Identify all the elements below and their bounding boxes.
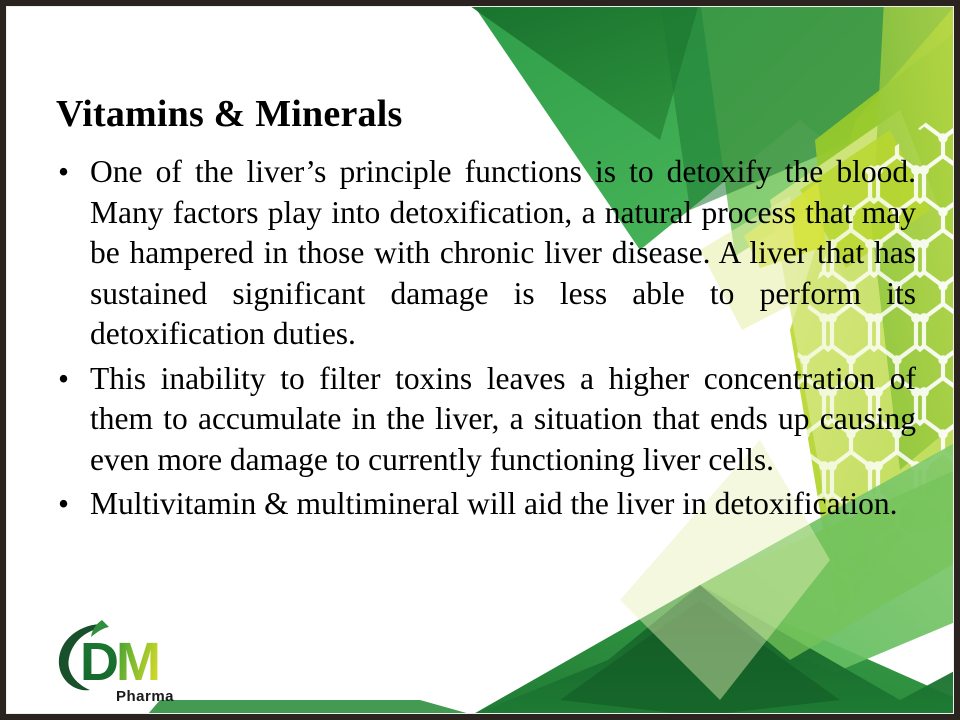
logo-letter-d: D xyxy=(80,632,119,692)
bullet-marker-icon: • xyxy=(58,484,69,525)
bullet-text-2: This inability to filter toxins leaves a… xyxy=(90,359,916,481)
bullet-marker-icon: • xyxy=(58,359,69,400)
logo-letter-m: M xyxy=(116,632,161,692)
deco-circuit-tree-trunk xyxy=(842,556,958,716)
logo-wordmark: D M xyxy=(80,632,161,692)
bullet-item-1: • One of the liver’s principle functions… xyxy=(44,152,916,355)
bullet-item-3: • Multivitamin & multimineral will aid t… xyxy=(44,484,916,525)
bullet-marker-icon: • xyxy=(58,152,69,193)
slide-content: Vitamins & Minerals • One of the liver’s… xyxy=(0,0,960,720)
dm-pharma-logo: D M Pharma xyxy=(56,618,216,706)
bullet-item-2: • This inability to filter toxins leaves… xyxy=(44,359,916,481)
slide-title: Vitamins & Minerals xyxy=(56,91,402,137)
logo-subtitle: Pharma xyxy=(116,688,174,705)
presentation-slide: Vitamins & Minerals • One of the liver’s… xyxy=(0,0,960,720)
slide-bullet-list: • One of the liver’s principle functions… xyxy=(44,152,916,525)
bullet-text-1: One of the liver’s principle functions i… xyxy=(90,152,916,355)
bullet-text-3: Multivitamin & multimineral will aid the… xyxy=(90,484,916,525)
